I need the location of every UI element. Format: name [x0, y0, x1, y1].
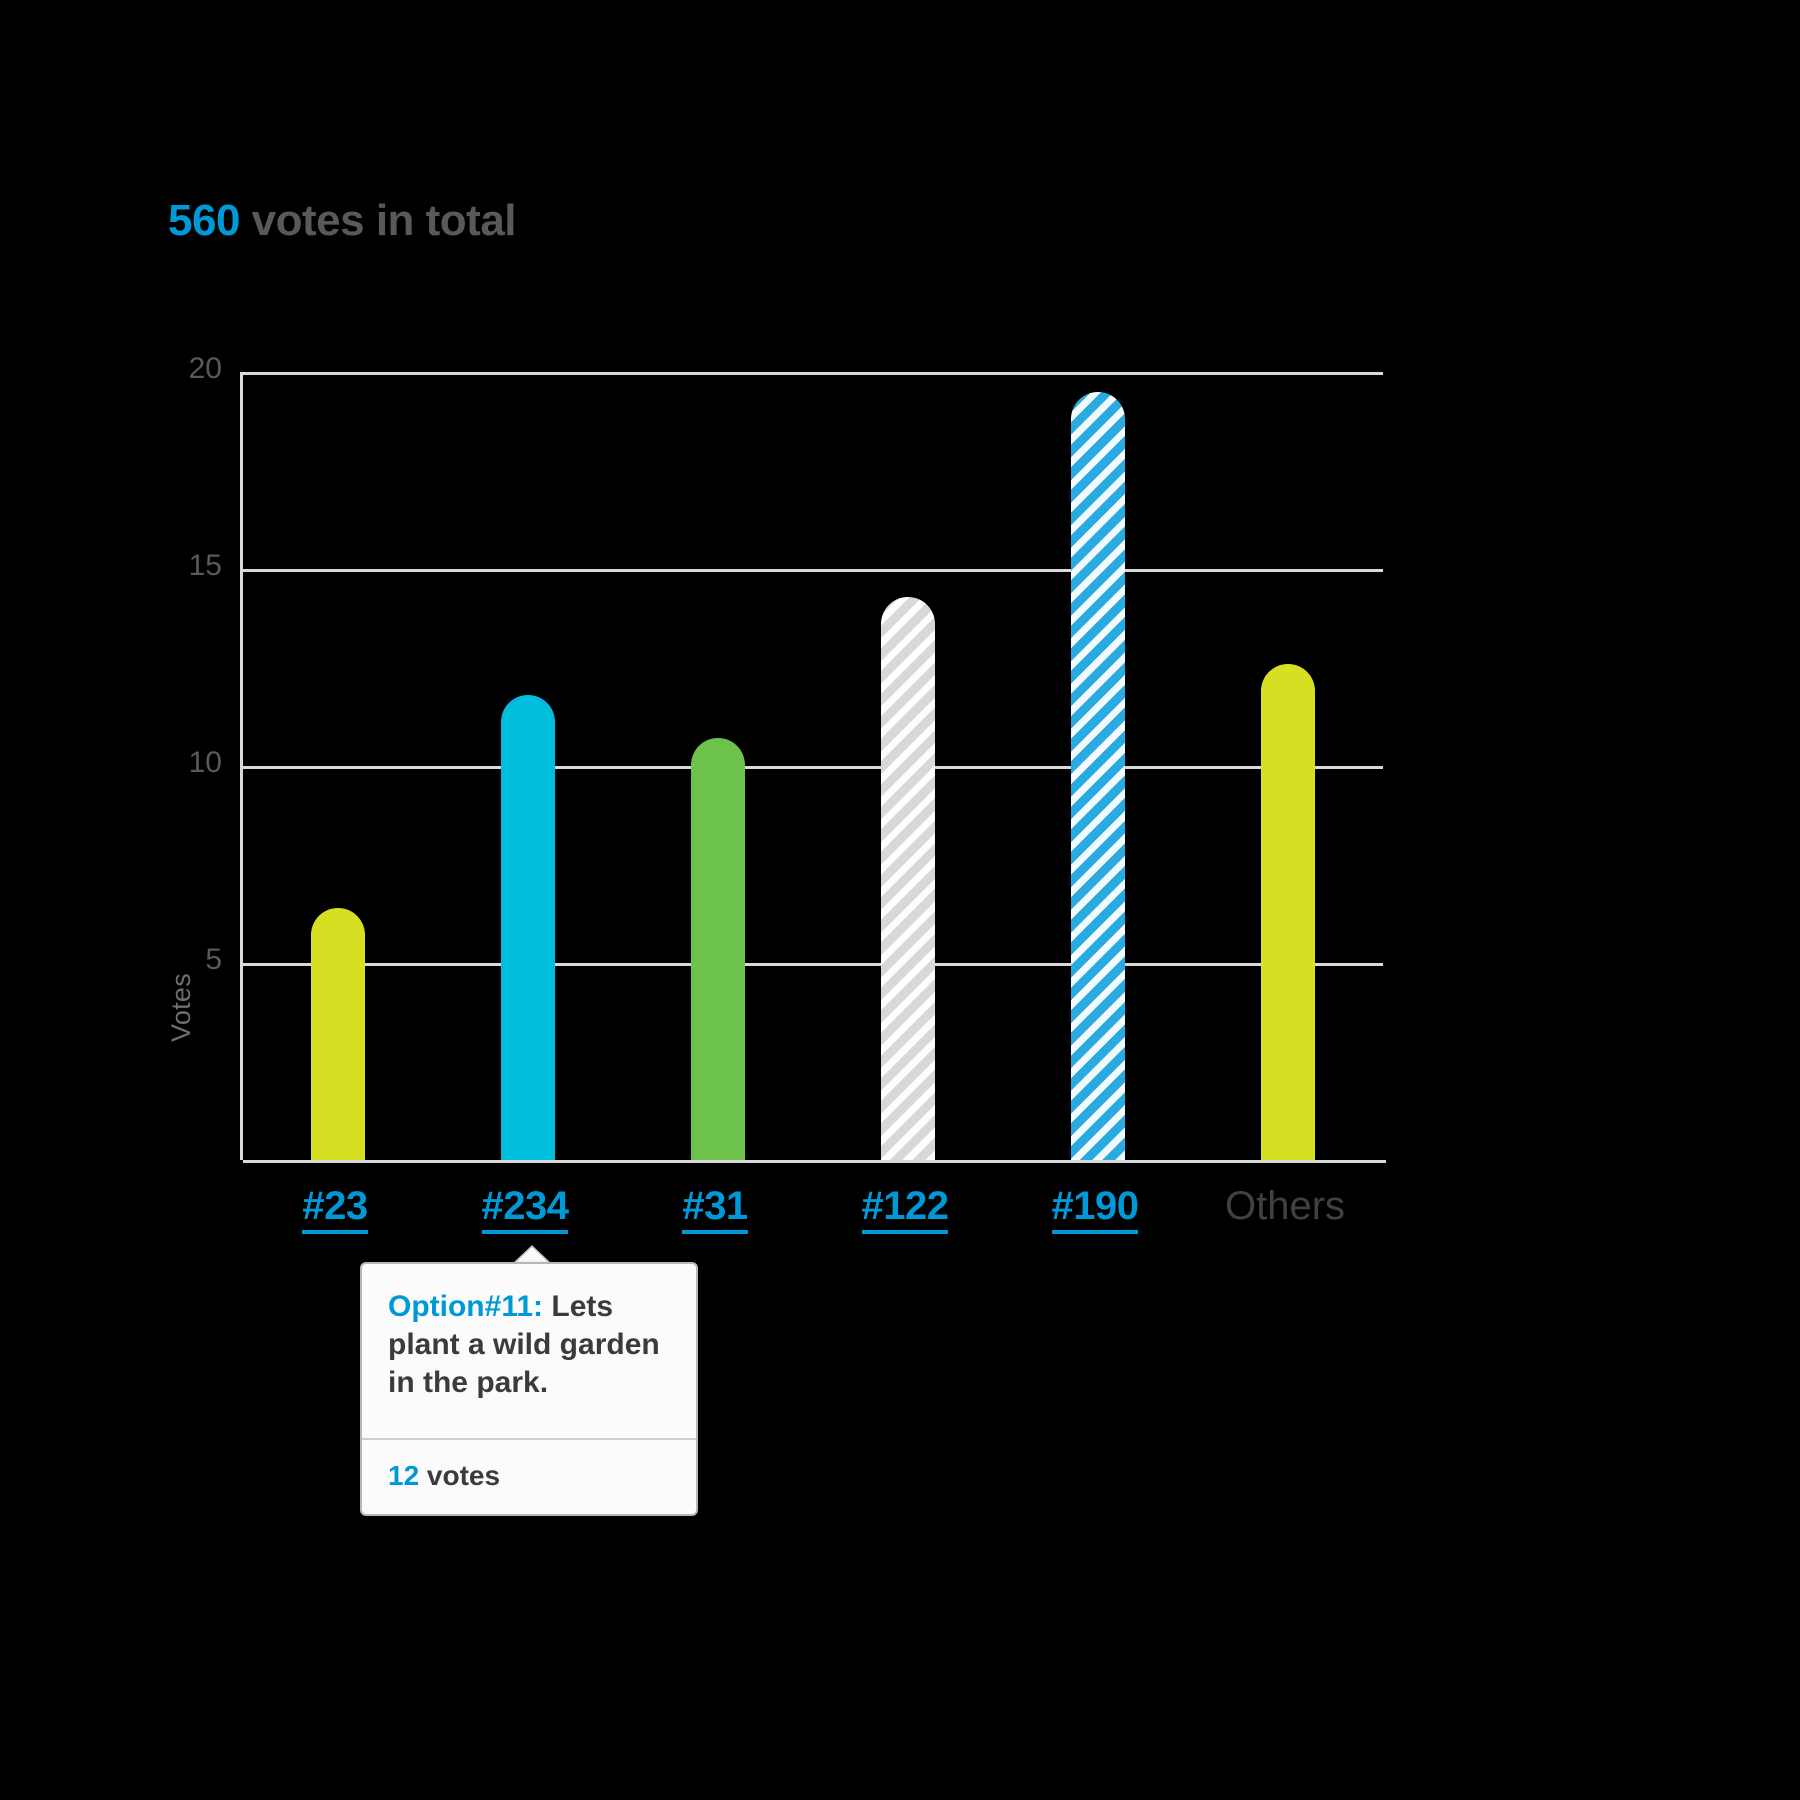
- tooltip-votes-number: 12: [388, 1460, 419, 1491]
- x-axis-label-text: #122: [862, 1184, 949, 1234]
- gridline: [243, 372, 1383, 375]
- bar-num-31[interactable]: [691, 738, 745, 1160]
- x-axis-label-others: Others: [1165, 1184, 1405, 1229]
- x-axis-label-text: #190: [1052, 1184, 1139, 1234]
- bar-others[interactable]: [1261, 664, 1315, 1160]
- tooltip: Option#11: Lets plant a wild garden in t…: [360, 1262, 698, 1516]
- y-axis-tick-label: 20: [162, 352, 222, 386]
- bar-num-234[interactable]: [501, 695, 555, 1160]
- page-title: 560 votes in total: [168, 196, 516, 246]
- x-axis-line: [243, 1160, 1386, 1163]
- plot-area: [240, 372, 1380, 1160]
- tooltip-footer: 12 votes: [362, 1438, 696, 1514]
- bar-num-190[interactable]: [1071, 392, 1125, 1160]
- x-axis-label-text: #234: [482, 1184, 569, 1234]
- tooltip-votes-label: votes: [419, 1460, 500, 1491]
- x-axis-label-text: #31: [682, 1184, 747, 1234]
- bar-num-23[interactable]: [311, 908, 365, 1160]
- gridline: [243, 766, 1383, 769]
- x-axis-label-text: #23: [302, 1184, 367, 1234]
- tooltip-option-label: Option#11:: [388, 1290, 543, 1323]
- tooltip-body: Option#11: Lets plant a wild garden in t…: [362, 1264, 696, 1438]
- bar-num-122[interactable]: [881, 597, 935, 1160]
- total-votes-count: 560: [168, 196, 240, 245]
- x-axis-label-text: Others: [1225, 1184, 1345, 1228]
- total-votes-suffix: votes in total: [240, 196, 516, 245]
- y-axis-tick-label: 10: [162, 746, 222, 780]
- gridline: [243, 569, 1383, 572]
- y-axis-title: Votes: [166, 882, 197, 1042]
- y-axis-tick-label: 15: [162, 549, 222, 583]
- gridline: [243, 963, 1383, 966]
